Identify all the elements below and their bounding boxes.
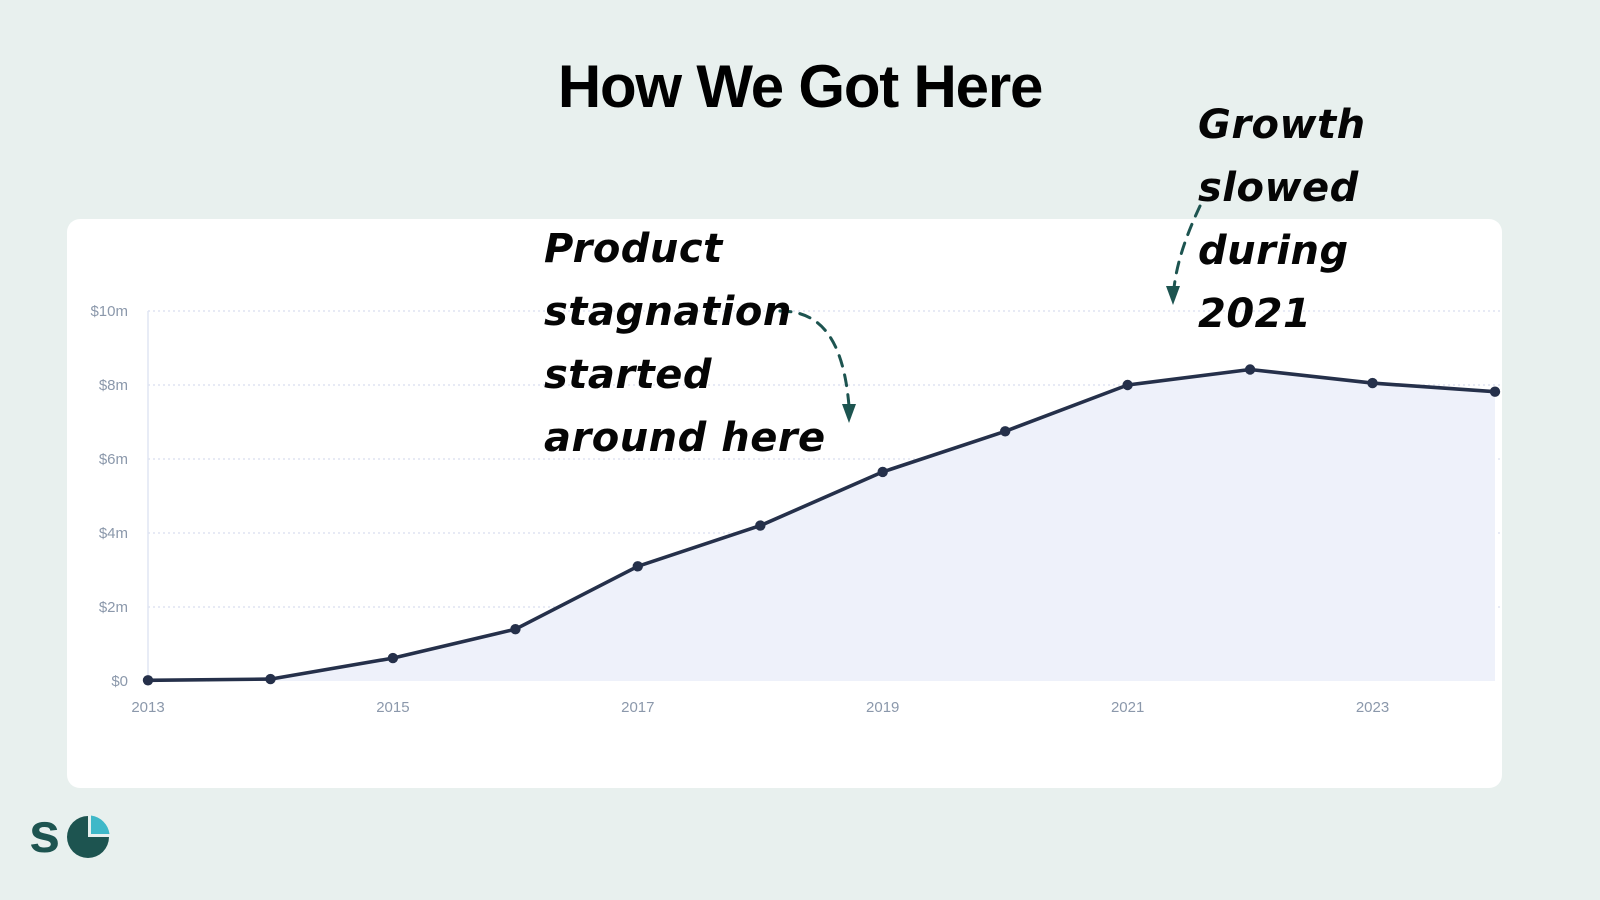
slide-canvas: How We Got Here $0$2m$4m$6m$8m$10m 20132… [0,0,1600,900]
annotation-stagnation-text: Product stagnation started around here [544,218,844,470]
logo-letter-s: s [30,806,60,860]
annotation-growth-text: Growth slowed during 2021 [1198,94,1478,346]
logo-pie-icon [67,813,112,858]
brand-logo[interactable]: s [30,806,114,860]
